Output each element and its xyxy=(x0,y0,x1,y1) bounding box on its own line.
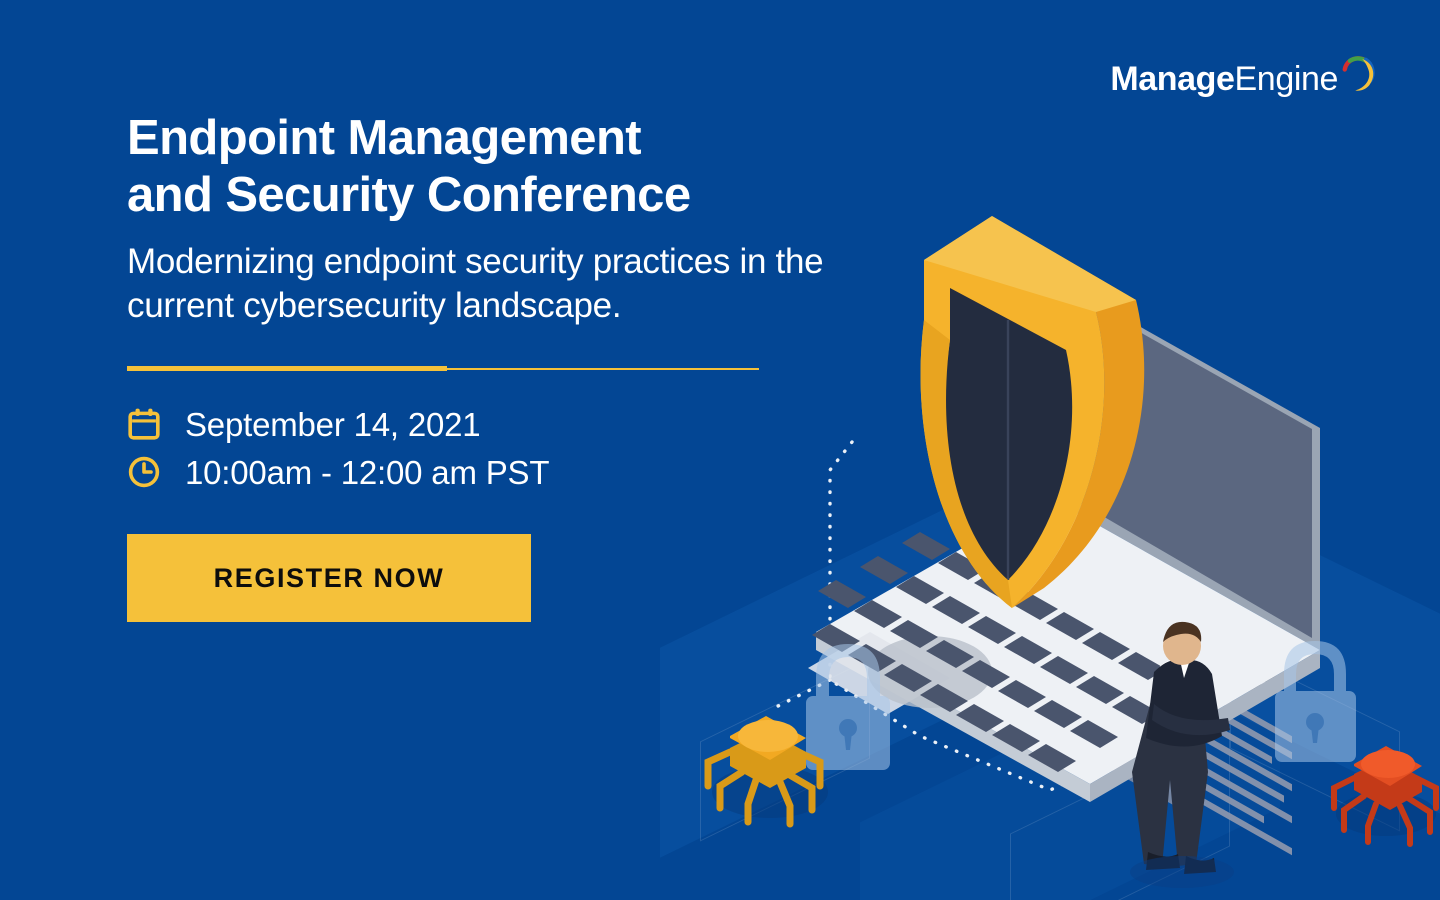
logo-wordmark: ManageEngine xyxy=(1110,62,1338,96)
calendar-icon xyxy=(127,407,161,441)
logo-regular-text: Engine xyxy=(1235,60,1338,98)
event-date-text: September 14, 2021 xyxy=(185,408,480,441)
manageengine-logo[interactable]: ManageEngine xyxy=(1110,62,1378,96)
promo-banner: ManageEngine Endpoint Management and Sec… xyxy=(0,0,1440,900)
register-now-button[interactable]: REGISTER NOW xyxy=(127,534,531,622)
title-line-2: and Security Conference xyxy=(127,168,690,222)
security-illustration xyxy=(620,180,1440,900)
event-time-text: 10:00am - 12:00 am PST xyxy=(185,456,549,489)
divider-thick-segment xyxy=(127,366,447,371)
clock-icon xyxy=(127,455,161,489)
logo-bold-text: Manage xyxy=(1110,60,1234,98)
illustration-canvas xyxy=(620,180,1440,900)
manageengine-swoosh-icon xyxy=(1336,52,1378,94)
title-line-1: Endpoint Management xyxy=(127,111,641,165)
